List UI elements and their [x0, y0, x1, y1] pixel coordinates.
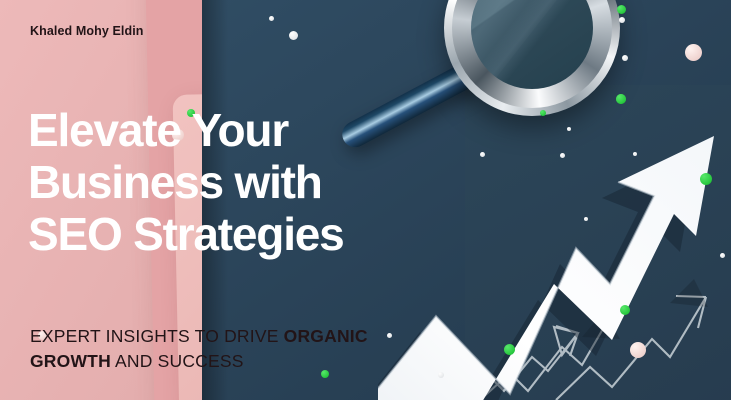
- dot-green: [504, 344, 515, 355]
- dot-white: [480, 152, 485, 157]
- author-byline: Khaled Mohy Eldin: [30, 24, 144, 38]
- headline-line-2: Business with: [28, 156, 448, 208]
- headline-line-3: SEO Strategies: [28, 208, 448, 260]
- dot-white: [560, 153, 565, 158]
- seo-poster: Khaled Mohy Eldin Elevate Your Business …: [0, 0, 731, 400]
- subheadline: EXPERT INSIGHTS TO DRIVE ORGANIC GROWTH …: [30, 324, 400, 374]
- dot-green: [616, 94, 626, 104]
- dot-white: [622, 55, 628, 61]
- dot-white: [619, 17, 625, 23]
- subheadline-suffix: AND SUCCESS: [111, 351, 244, 371]
- dot-white: [584, 217, 588, 221]
- dot-white: [720, 253, 725, 258]
- headline-line-1: Elevate Your: [28, 104, 448, 156]
- subheadline-prefix: EXPERT INSIGHTS TO DRIVE: [30, 326, 284, 346]
- dot-white: [567, 127, 571, 131]
- dot-white: [289, 31, 298, 40]
- dot-white: [633, 152, 637, 156]
- dot-green: [620, 305, 630, 315]
- sphere-pink: [630, 342, 646, 358]
- dot-green: [700, 173, 712, 185]
- dot-green: [540, 110, 546, 116]
- page-title: Elevate Your Business with SEO Strategie…: [28, 104, 448, 260]
- magnifier-lens: [471, 0, 593, 89]
- dot-green: [617, 5, 626, 14]
- dot-white: [269, 16, 274, 21]
- dot-white: [438, 372, 444, 378]
- sphere-pink: [685, 44, 702, 61]
